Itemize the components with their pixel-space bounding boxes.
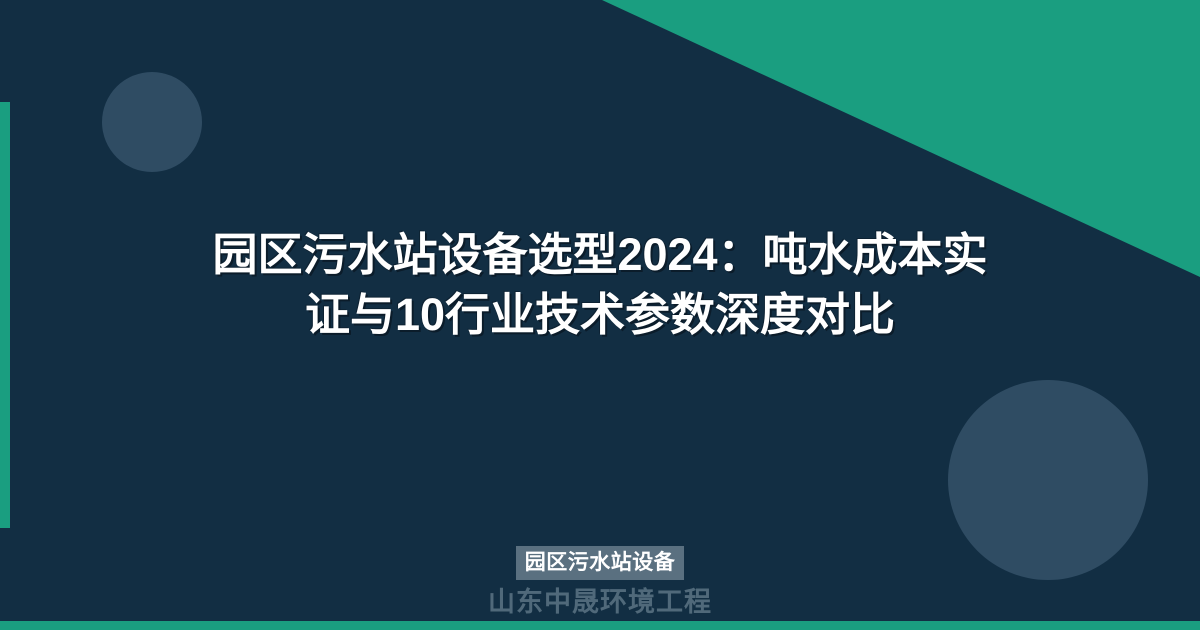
poster-canvas: 园区污水站设备选型2024：吨水成本实证与10行业技术参数深度对比 园区污水站设… xyxy=(0,0,1200,630)
title-container: 园区污水站设备选型2024：吨水成本实证与10行业技术参数深度对比 xyxy=(0,0,1200,630)
page-title: 园区污水站设备选型2024：吨水成本实证与10行业技术参数深度对比 xyxy=(190,225,1010,345)
accent-bar-bottom xyxy=(0,621,1200,630)
category-tag-badge: 园区污水站设备 xyxy=(516,546,685,580)
brand-watermark: 山东中晟环境工程 xyxy=(488,588,712,618)
footer-watermark-group: 园区污水站设备 山东中晟环境工程 xyxy=(0,540,1200,630)
